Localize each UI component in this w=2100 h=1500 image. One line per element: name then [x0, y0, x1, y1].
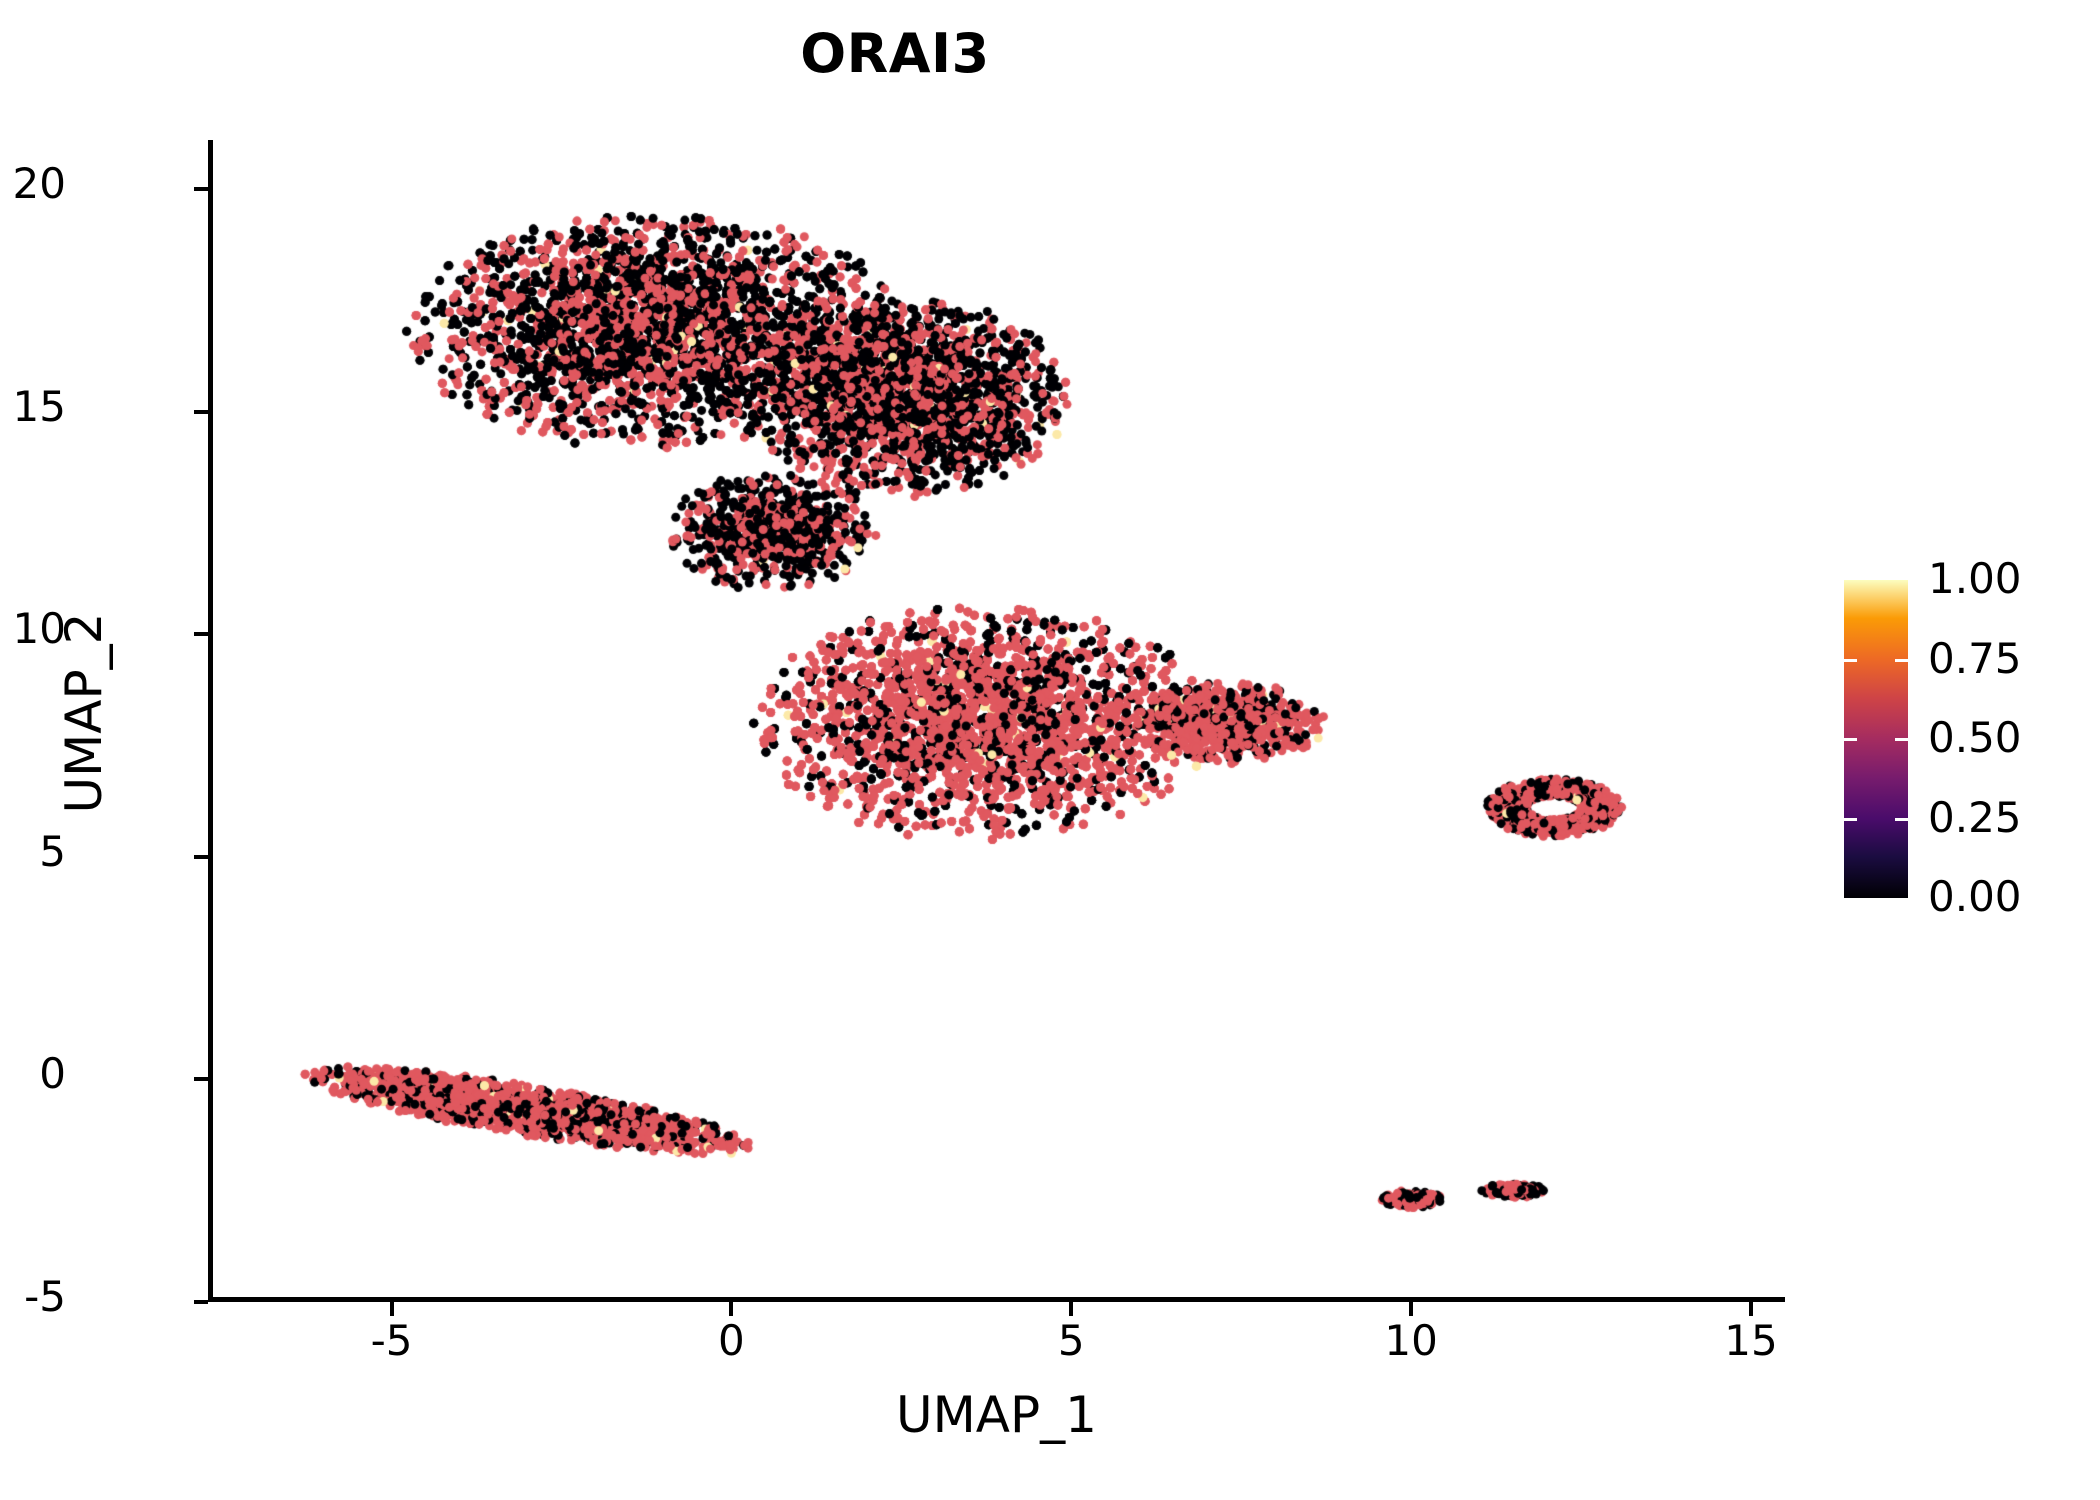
y-tick-label: -5 [24, 1276, 66, 1318]
y-tick-mark [194, 1077, 208, 1081]
x-tick-mark [390, 1302, 394, 1316]
x-tick-mark [1069, 1302, 1073, 1316]
y-axis-label: UMAP_2 [55, 363, 113, 1063]
y-axis-spine [208, 140, 213, 1302]
colorbar-tick-mark [1844, 818, 1857, 821]
y-tick-mark [194, 1300, 208, 1304]
x-tick-mark [1749, 1302, 1753, 1316]
colorbar-tick-label: 0.75 [1928, 638, 2022, 680]
colorbar-tick-label: 1.00 [1928, 558, 2022, 600]
x-tick-label: 5 [971, 1320, 1171, 1362]
plot-axes-area [208, 140, 1785, 1302]
colorbar-tick-mark [1895, 659, 1908, 662]
colorbar-tick-mark [1895, 818, 1908, 821]
x-tick-label: 10 [1311, 1320, 1511, 1362]
x-axis-spine [208, 1297, 1785, 1302]
x-tick-mark [729, 1302, 733, 1316]
y-tick-label: 20 [13, 163, 66, 205]
colorbar-tick-mark [1844, 659, 1857, 662]
colorbar-tick-mark [1844, 738, 1857, 741]
y-tick-mark [194, 855, 208, 859]
x-tick-mark [1409, 1302, 1413, 1316]
colorbar-tick-label: 0.00 [1928, 876, 2022, 918]
colorbar-tick-label: 0.50 [1928, 717, 2022, 759]
y-tick-mark [194, 410, 208, 414]
x-axis-label: UMAP_1 [208, 1386, 1785, 1444]
x-tick-label: 0 [631, 1320, 831, 1362]
colorbar-tick-mark [1895, 738, 1908, 741]
y-tick-mark [194, 632, 208, 636]
scatter-plot-canvas [208, 140, 1785, 1302]
colorbar-tick-label: 0.25 [1928, 797, 2022, 839]
y-tick-mark [194, 187, 208, 191]
x-tick-label: -5 [292, 1320, 492, 1362]
x-tick-label: 15 [1651, 1320, 1851, 1362]
colorbar: 0.000.250.500.751.00 [1844, 580, 2084, 900]
page-title: ORAI3 [0, 22, 1790, 85]
umap-feature-plot: ORAI3 -505101520 -5051015 UMAP_1 UMAP_2 … [0, 0, 2100, 1500]
